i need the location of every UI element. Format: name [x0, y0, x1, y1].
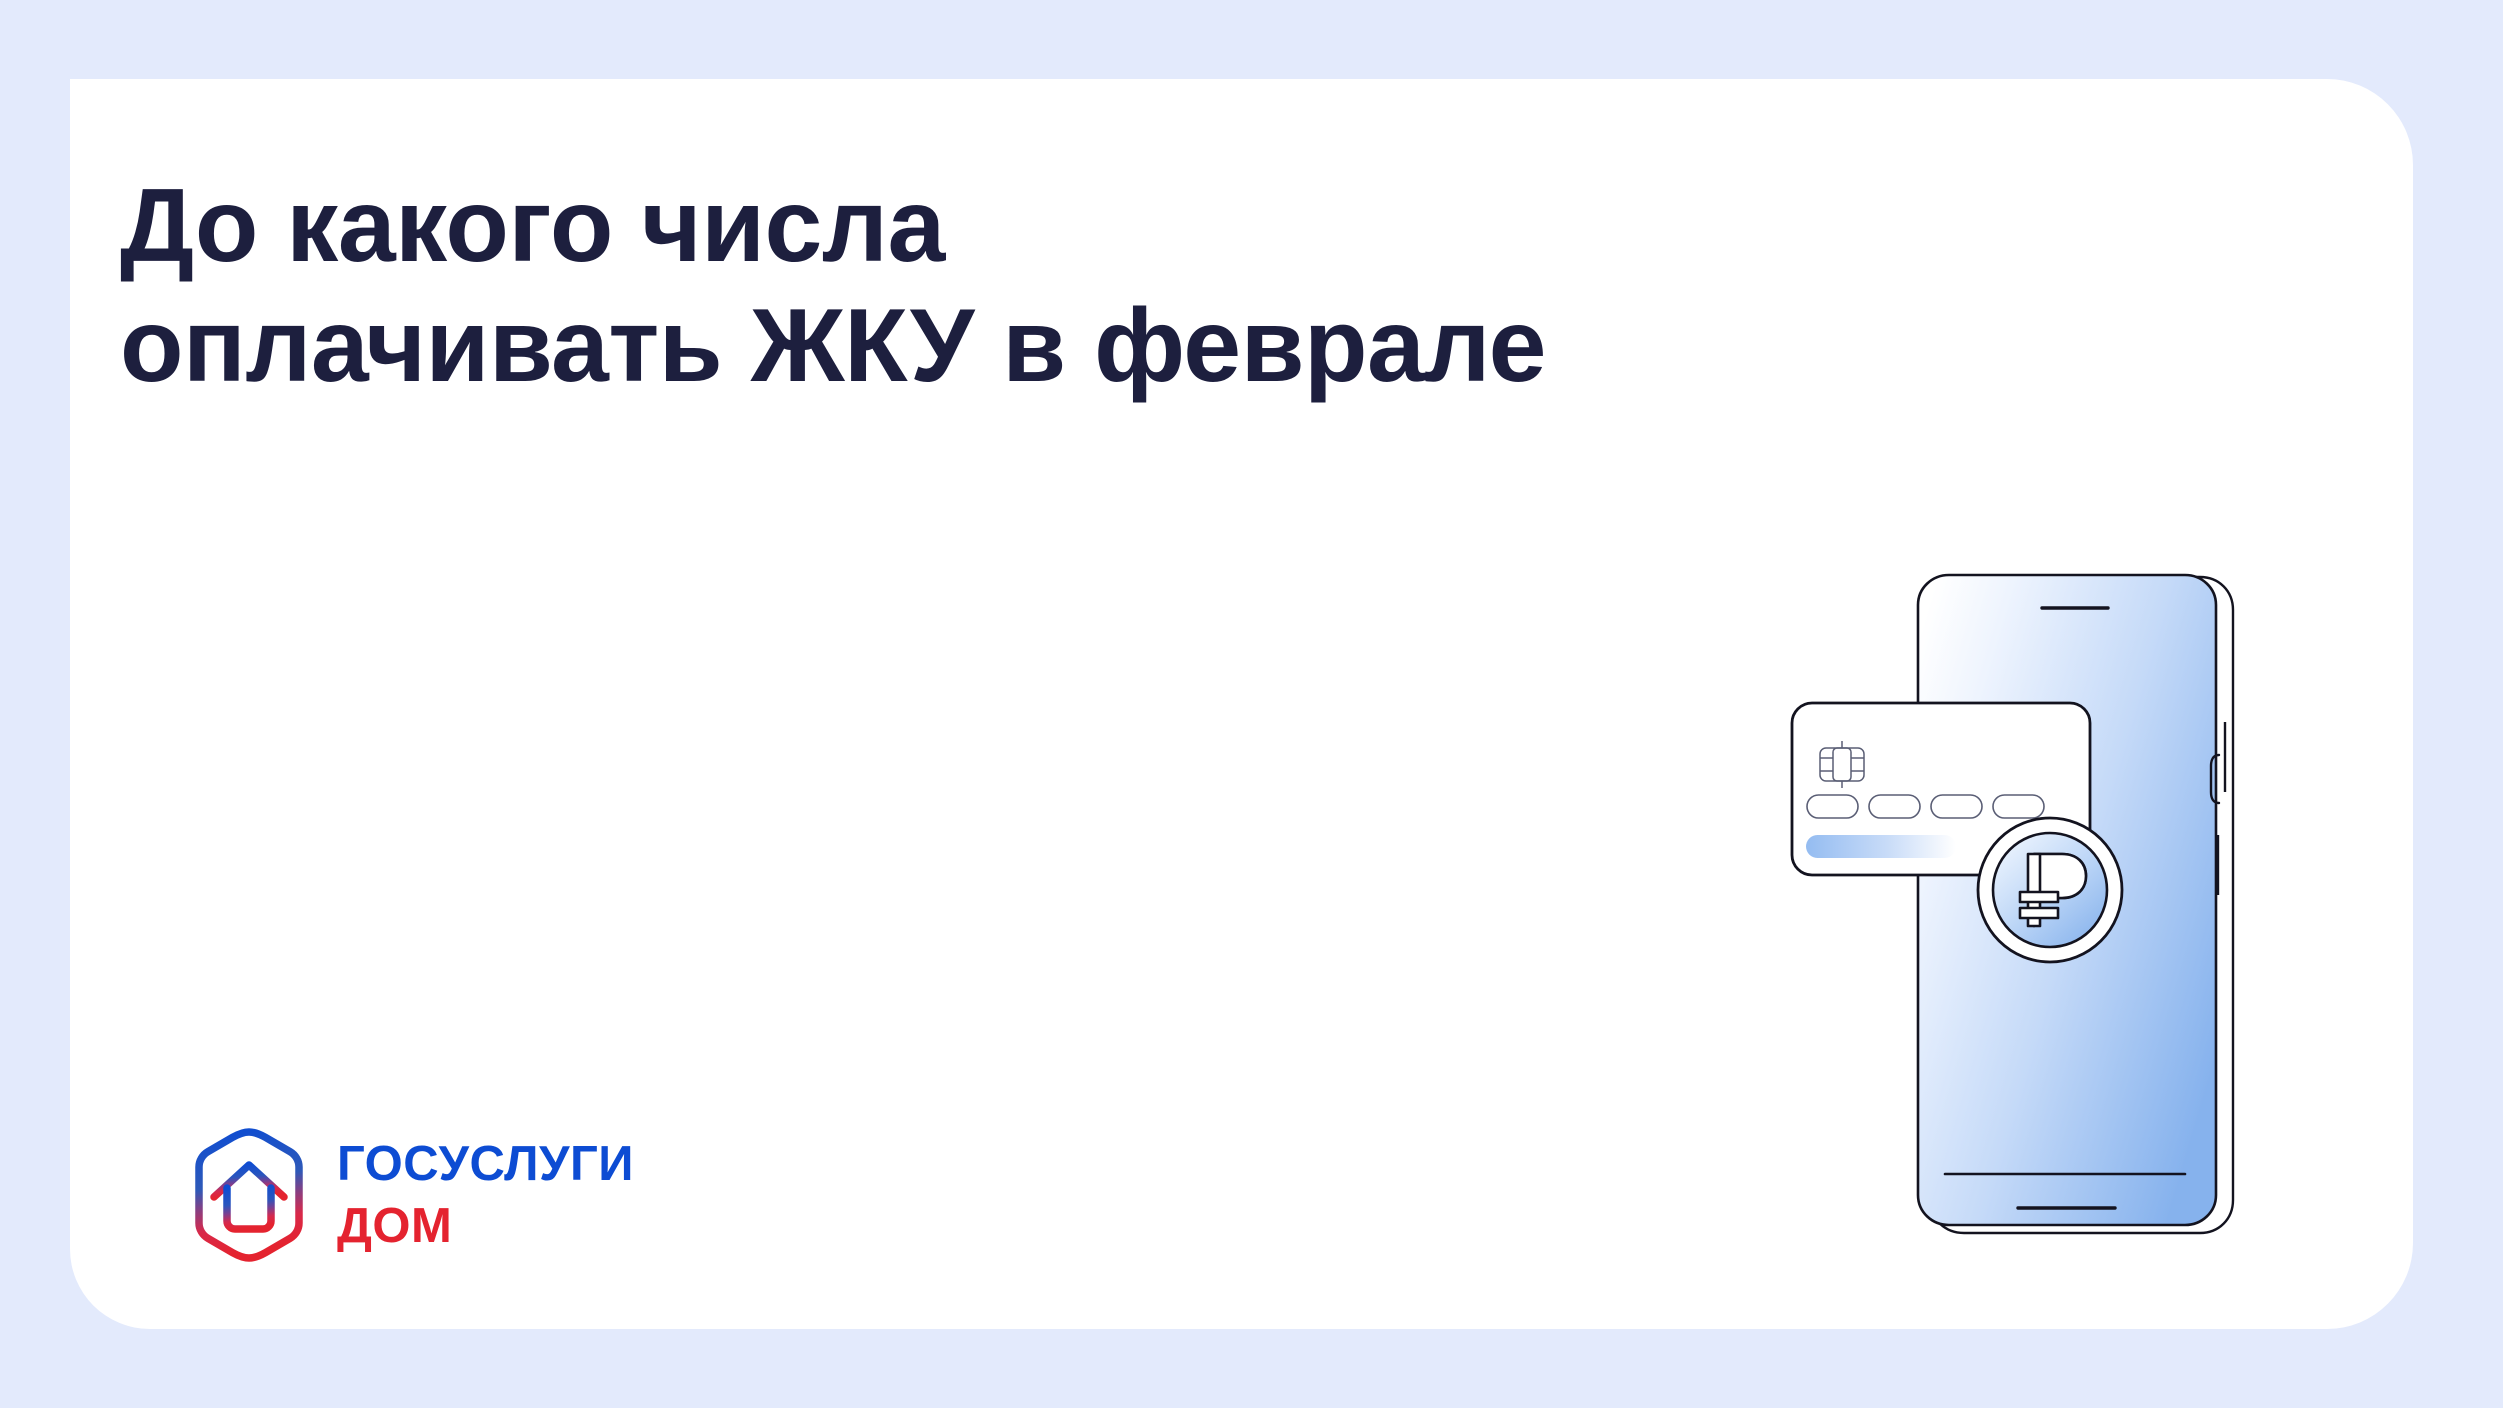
brand-logo[interactable]: ГОСУСЛУГИ ДОМ: [185, 1122, 655, 1272]
brand-wordmark-line-1: ГОСУСЛУГИ: [337, 1140, 634, 1189]
page-title: До какого числа оплачивать ЖКУ в феврале: [120, 166, 1880, 407]
house-hexagon-icon: [185, 1125, 313, 1265]
ruble-coin: [1978, 818, 2122, 962]
brand-wordmark: ГОСУСЛУГИ ДОМ: [337, 1122, 657, 1267]
poster-root: До какого числа оплачивать ЖКУ в феврале: [0, 0, 2503, 1408]
payment-illustration: [1770, 570, 2240, 1270]
brand-wordmark-line-2: ДОМ: [337, 1202, 452, 1251]
card-gradient-stripe: [1806, 835, 1956, 858]
